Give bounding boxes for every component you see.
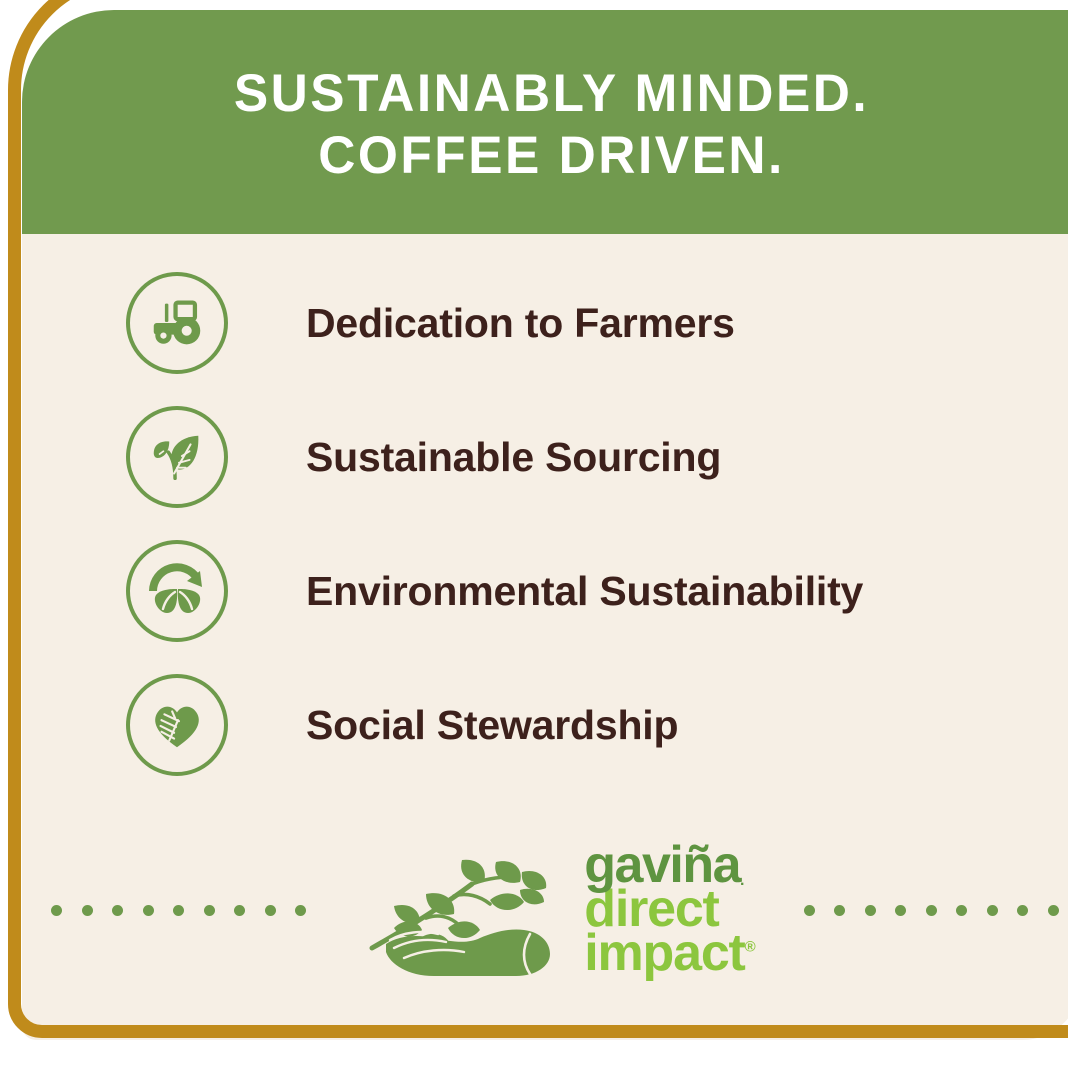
dot	[926, 905, 937, 916]
dot	[1017, 905, 1028, 916]
leaf-icon	[146, 426, 208, 488]
logo-word-impact: impact®	[584, 932, 755, 976]
hands-heart-icon	[146, 694, 208, 756]
feature-label: Environmental Sustainability	[306, 568, 863, 615]
feature-row-sustainable-sourcing[interactable]: Sustainable Sourcing	[22, 390, 1068, 524]
dot	[82, 905, 93, 916]
tractor-icon-circle	[126, 272, 228, 374]
dot	[834, 905, 845, 916]
dot	[51, 905, 62, 916]
header-line-1: SUSTAINABLY MINDED.	[234, 63, 869, 125]
dot	[1048, 905, 1059, 916]
dot	[895, 905, 906, 916]
feature-label: Sustainable Sourcing	[306, 434, 721, 481]
feature-row-environmental-sustainability[interactable]: Environmental Sustainability	[22, 524, 1068, 658]
feature-row-social-stewardship[interactable]: Social Stewardship	[22, 658, 1068, 792]
gavina-direct-impact-logo[interactable]: gaviña. direct impact®	[364, 844, 755, 976]
dot	[143, 905, 154, 916]
card-panel: SUSTAINABLY MINDED. COFFEE DRIVEN.	[22, 10, 1068, 1040]
hands-heart-icon-circle	[126, 674, 228, 776]
feature-row-dedication-to-farmers[interactable]: Dedication to Farmers	[22, 256, 1068, 390]
recycle-leaf-icon	[145, 559, 209, 623]
dots-left	[51, 905, 306, 916]
feature-label: Dedication to Farmers	[306, 300, 735, 347]
dot	[804, 905, 815, 916]
dot	[234, 905, 245, 916]
logo-word-gavina: gaviña.	[584, 844, 755, 888]
dot	[112, 905, 123, 916]
feature-label: Social Stewardship	[306, 702, 678, 749]
dot	[865, 905, 876, 916]
logo-wordmark: gaviña. direct impact®	[584, 844, 755, 975]
dot	[987, 905, 998, 916]
dot	[956, 905, 967, 916]
dot	[173, 905, 184, 916]
dot	[265, 905, 276, 916]
leaf-icon-circle	[126, 406, 228, 508]
card-footer: gaviña. direct impact®	[22, 844, 1068, 976]
dots-right	[804, 905, 1059, 916]
logo-gavina-mark: .	[740, 873, 744, 890]
card-header: SUSTAINABLY MINDED. COFFEE DRIVEN.	[22, 10, 1068, 234]
dot	[204, 905, 215, 916]
dot	[295, 905, 306, 916]
tractor-icon	[146, 292, 208, 354]
hand-holding-branch-icon	[364, 844, 576, 976]
logo-impact-mark: ®	[745, 939, 756, 956]
sustainability-card: SUSTAINABLY MINDED. COFFEE DRIVEN.	[0, 0, 1068, 1068]
recycle-leaf-icon-circle	[126, 540, 228, 642]
header-line-2: COFFEE DRIVEN.	[319, 125, 786, 187]
feature-list: Dedication to Farmers	[22, 234, 1068, 792]
